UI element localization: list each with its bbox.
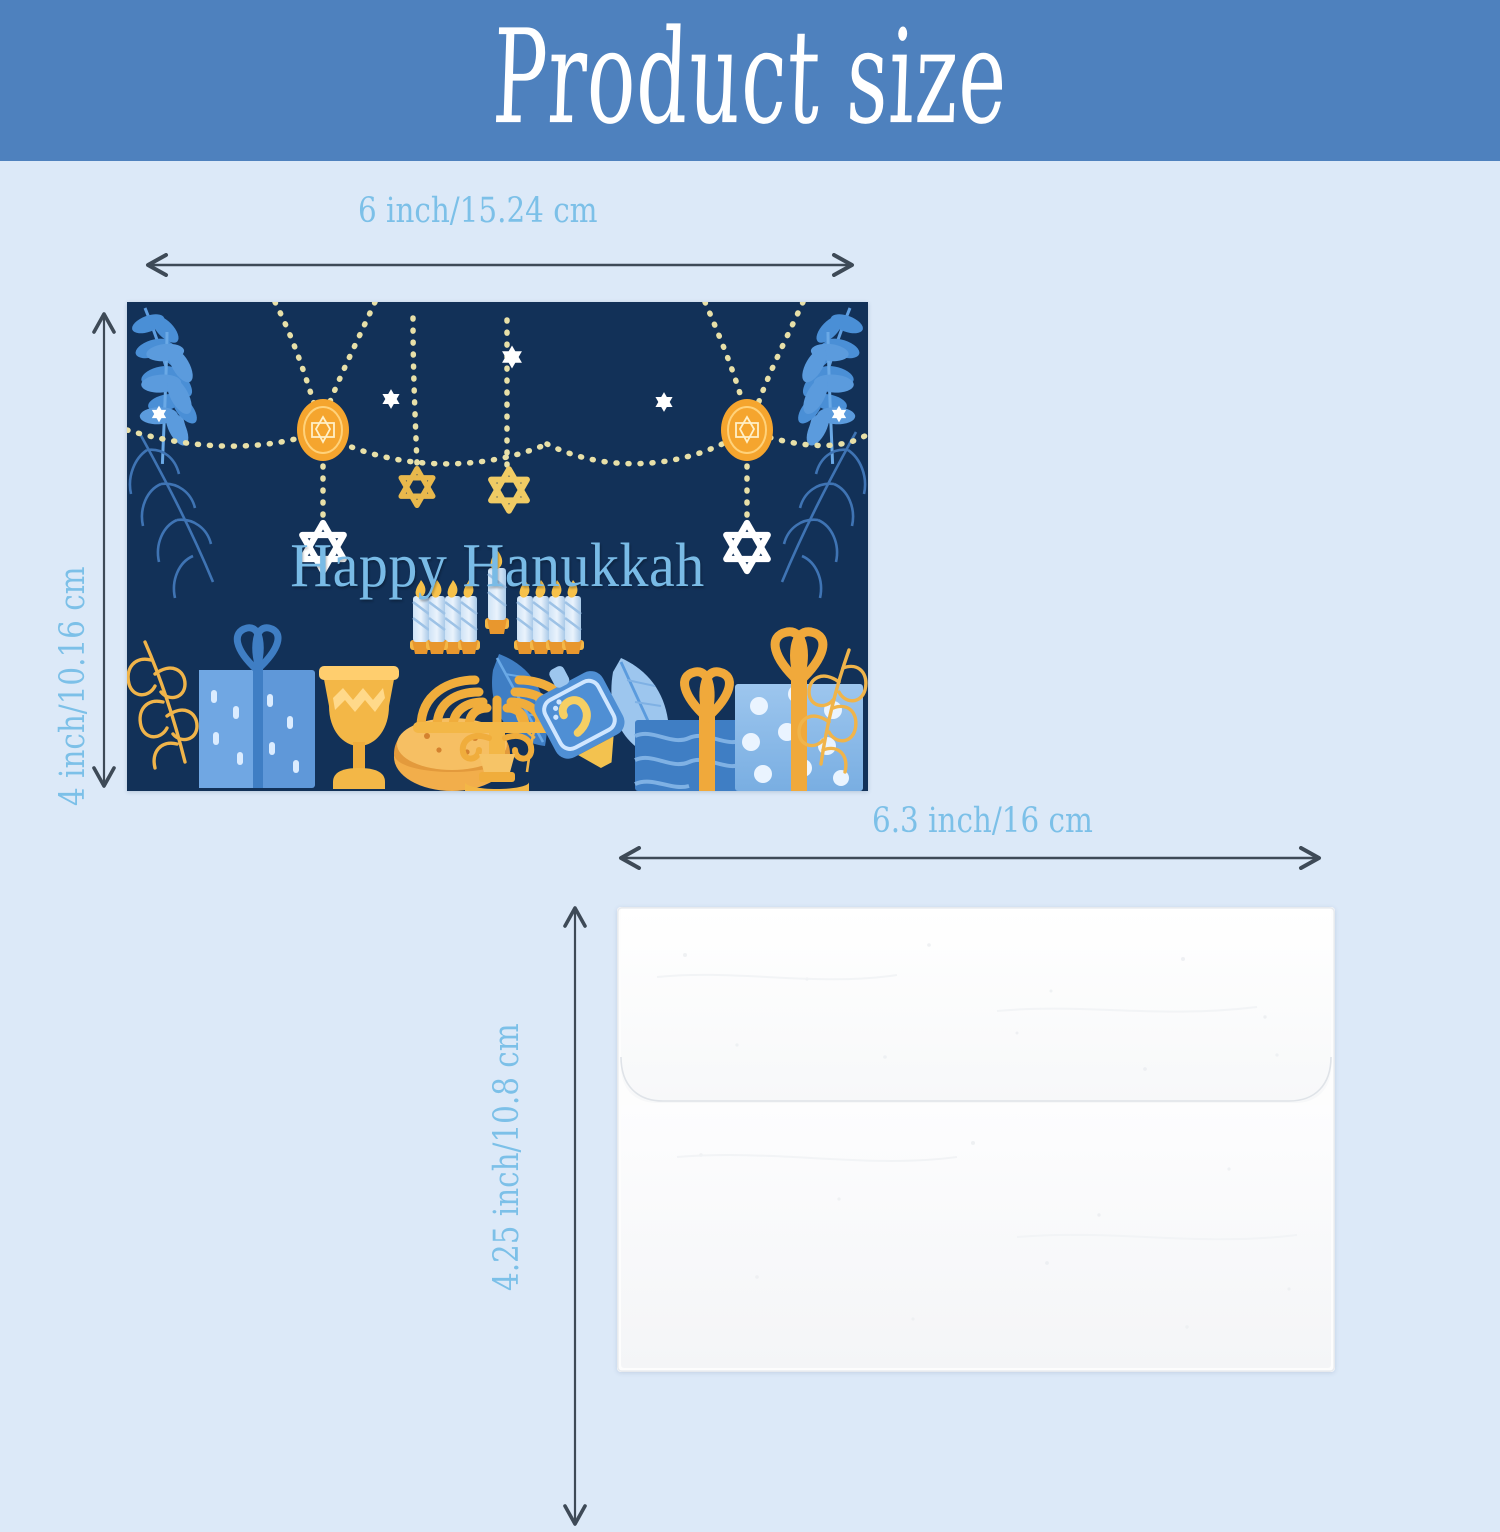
envelope-width-arrow	[613, 846, 1327, 870]
garland-rosette-right	[721, 399, 773, 461]
card-greeting-text: Happy Hanukkah	[127, 534, 868, 597]
envelope-artwork	[617, 907, 1335, 1372]
header-banner: Product size	[0, 0, 1500, 161]
card-width-arrow	[140, 253, 860, 277]
card-height-label: 4 inch/10.16 cm	[56, 566, 91, 806]
garland-rosette-left	[297, 399, 349, 461]
white-envelope[interactable]	[617, 907, 1335, 1372]
card-height-arrow	[92, 306, 116, 794]
envelope-width-label: 6.3 inch/16 cm	[872, 804, 1093, 839]
hanukkah-greeting-card[interactable]: Happy Hanukkah	[127, 302, 868, 791]
page-title: Product size	[491, 13, 1009, 143]
card-width-label: 6 inch/15.24 cm	[358, 194, 598, 229]
envelope-height-label: 4.25 inch/10.8 cm	[490, 1023, 525, 1291]
envelope-height-arrow	[563, 900, 587, 1532]
